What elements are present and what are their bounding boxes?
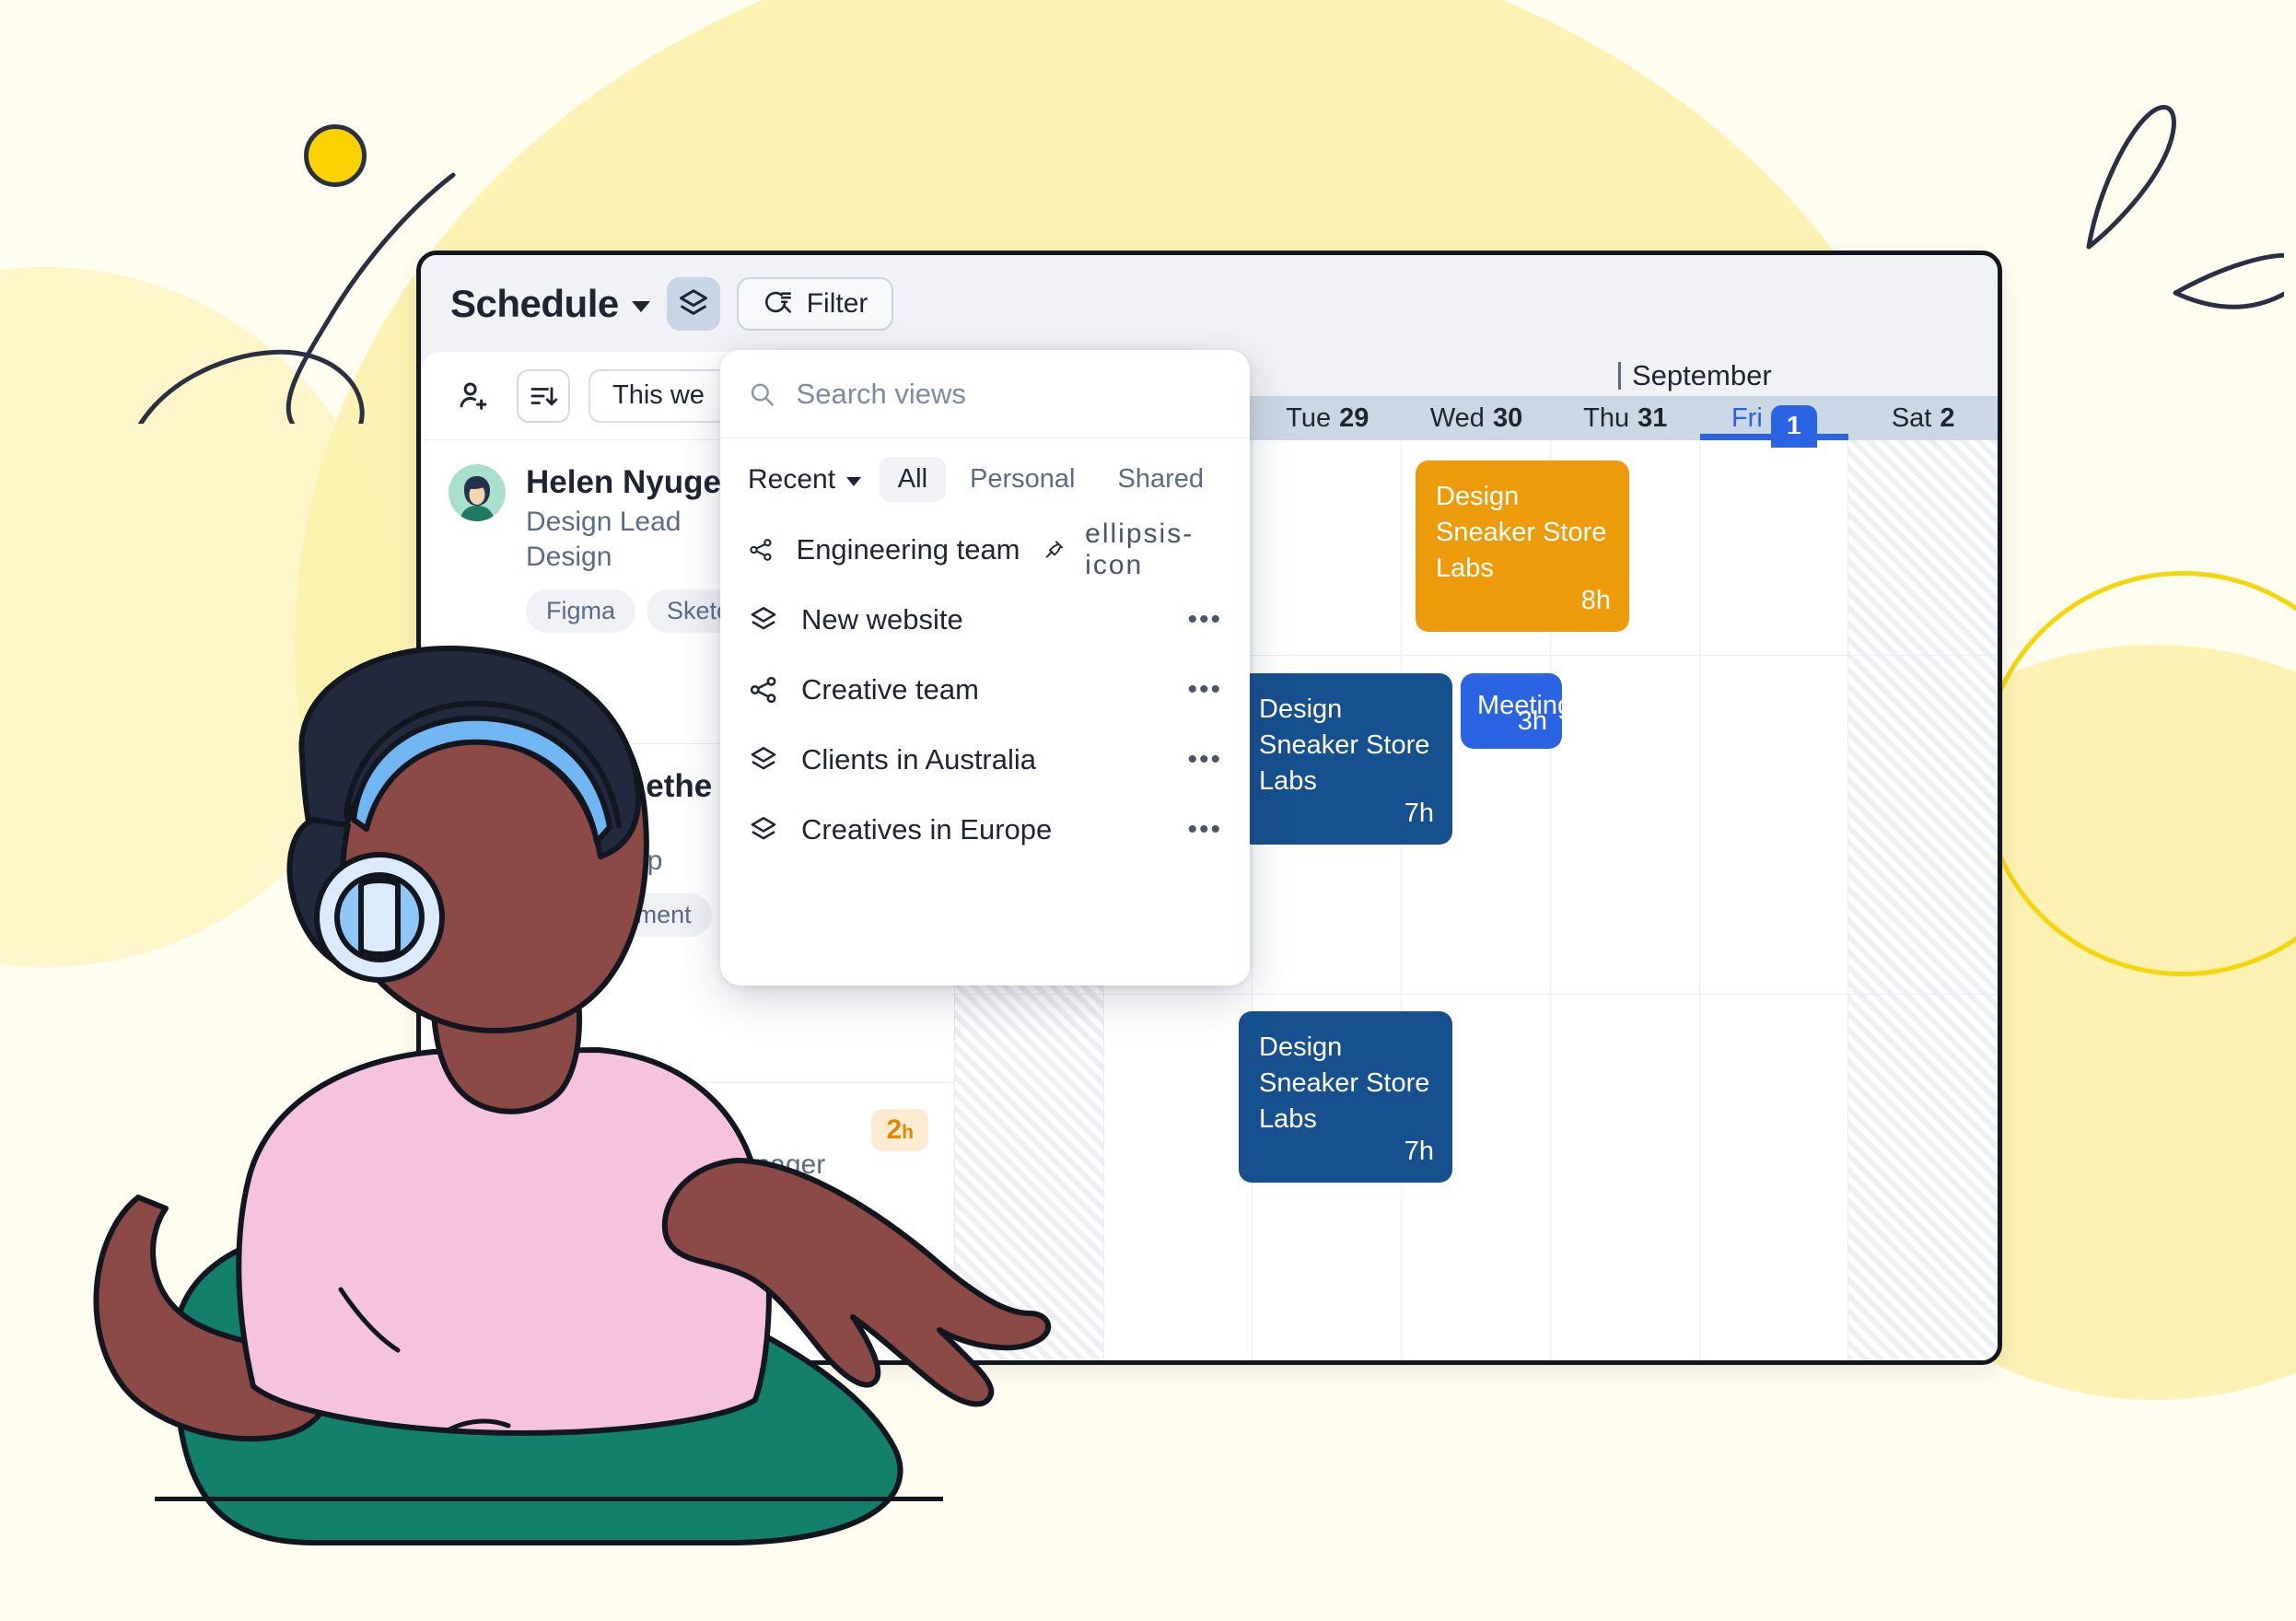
hours-unit: h [902,1122,914,1143]
day-header-fri-today[interactable]: Fri 1 [1700,396,1849,440]
event-client: Sneaker Store [1259,728,1432,764]
day-header-wed[interactable]: Wed 30 [1402,396,1551,440]
segment-all[interactable]: All [880,457,946,502]
view-item-engineering-team[interactable]: Engineering team ellipsis-icon [720,515,1250,585]
person-name: Glenn Lethe [526,768,712,805]
event-title: Design [1259,692,1432,728]
view-item-new-website[interactable]: New website ••• [720,585,1250,655]
view-item-creative-team[interactable]: Creative team ••• [720,655,1250,725]
floor-line [155,1497,943,1501]
view-item-menu-button[interactable]: ellipsis-icon [1085,519,1222,581]
layers-icon [748,744,779,776]
day-name: Tue [1286,403,1331,434]
add-person-button[interactable] [449,371,498,421]
layers-icon [676,286,711,321]
view-item-label: Clients in Australia [801,743,1165,776]
event-title: Design [1436,479,1609,515]
view-item-menu-button[interactable]: ••• [1187,744,1222,776]
segment-personal[interactable]: Personal [951,457,1093,502]
day-header-tue[interactable]: Tue 29 [1253,396,1402,440]
person-team: Product [526,1184,825,1216]
day-header-sat[interactable]: Sat 2 [1848,396,1998,440]
views-layers-button[interactable] [667,277,720,331]
day-number: 30 [1493,403,1522,434]
view-item-actions: ••• [1187,674,1222,706]
sort-descending-icon [527,379,560,413]
person-team: Leadership [526,845,712,877]
calendar-event[interactable]: Design Sneaker Store Labs 7h [1239,1011,1452,1183]
views-group-dropdown[interactable]: Recent [748,464,861,496]
person-name: Yasmin [526,1107,825,1144]
skill-tag[interactable]: Management [526,893,712,937]
chevron-down-icon [846,477,861,486]
chevron-down-icon [632,301,650,312]
skill-tag[interactable]: Figma [526,589,635,633]
pin-icon[interactable] [1043,536,1066,564]
views-group-label: Recent [748,464,835,496]
filter-label: Filter [807,288,868,320]
view-item-menu-button[interactable]: ••• [1187,814,1222,845]
month-tick [1618,362,1621,390]
event-project: Labs [1259,1102,1432,1137]
view-item-label: New website [801,603,1165,636]
view-item-menu-button[interactable]: ••• [1187,604,1222,636]
view-item-clients-in-australia[interactable]: Clients in Australia ••• [720,725,1250,795]
day-number: 29 [1339,403,1369,434]
view-item-actions: ellipsis-icon [1043,519,1222,581]
date-range-select[interactable]: This we [589,369,728,423]
share-nodes-icon [748,534,775,566]
day-number: 31 [1638,403,1667,434]
today-indicator [1700,434,1849,440]
avatar [449,768,506,825]
view-item-menu-button[interactable]: ••• [1187,674,1222,706]
day-name: Fri [1731,403,1763,434]
add-person-icon [455,378,492,414]
person-row[interactable]: Yasmin Senior Product Manager Product Ji… [421,1083,954,1365]
squiggle-doodle-icon [129,147,460,424]
app-topbar: Schedule Filter [421,255,1998,352]
day-name: Sat [1892,403,1932,434]
day-name: Thu [1583,403,1629,434]
event-project: Labs [1436,551,1609,587]
search-input[interactable] [797,378,1222,411]
event-client: Sneaker Store [1436,515,1609,551]
spark-doodle-icon [1980,83,2284,313]
view-item-label: Creatives in Europe [801,813,1165,846]
calendar-event[interactable]: Design Sneaker Store Labs 8h [1416,461,1629,632]
event-project: Labs [1259,764,1432,799]
filter-search-icon [763,288,794,320]
month-label-wrap: September [1618,359,1772,392]
hours-badge: 2h [871,1109,928,1151]
view-item-actions: ••• [1187,814,1222,845]
day-name: Wed [1430,403,1485,434]
event-duration: 7h [1404,796,1434,832]
layers-icon [748,814,779,845]
page-title: Schedule [450,282,619,326]
event-duration: 8h [1581,583,1611,619]
view-item-label: Engineering team [797,533,1020,566]
segment-shared[interactable]: Shared [1099,457,1222,502]
sort-button[interactable] [517,369,570,423]
views-search-row [720,350,1250,438]
schedule-title-dropdown[interactable]: Schedule [450,282,650,326]
views-filter-row: Recent All Personal Shared [720,438,1250,515]
view-item-actions: ••• [1187,744,1222,776]
event-client: Sneaker Store [1259,1066,1432,1102]
view-item-label: Creative team [801,673,1165,706]
person-role: CEO [526,810,712,842]
hours-value: 2 [886,1114,902,1145]
day-header-thu[interactable]: Thu 31 [1551,396,1700,440]
avatar [449,1107,506,1164]
event-title: Design [1259,1030,1432,1066]
person-tags: Jira [526,1232,825,1276]
person-role: Senior Product Manager [526,1149,825,1181]
person-tags: Management [526,893,712,937]
calendar-event[interactable]: Meeting / Pr 3h [1461,673,1562,749]
skill-tag[interactable]: Jira [526,1232,607,1276]
month-label: September [1632,359,1772,392]
event-duration: 7h [1404,1134,1434,1170]
views-segmented-control: All Personal Shared [880,457,1222,502]
calendar-event[interactable]: Design Sneaker Store Labs 7h [1239,673,1452,845]
avatar [449,464,506,521]
view-item-actions: ••• [1187,604,1222,636]
layers-icon [748,604,779,636]
search-icon [748,379,776,410]
day-number: 2 [1940,403,1954,434]
views-dropdown-panel: Recent All Personal Shared Engineering t… [720,350,1250,985]
event-duration: 3h [1518,704,1547,740]
date-range-value: This we [612,380,705,411]
view-item-creatives-in-europe[interactable]: Creatives in Europe ••• [720,795,1250,865]
yellow-dot-decoration [304,124,367,187]
filter-button[interactable]: Filter [737,277,894,331]
share-nodes-icon [748,674,779,706]
